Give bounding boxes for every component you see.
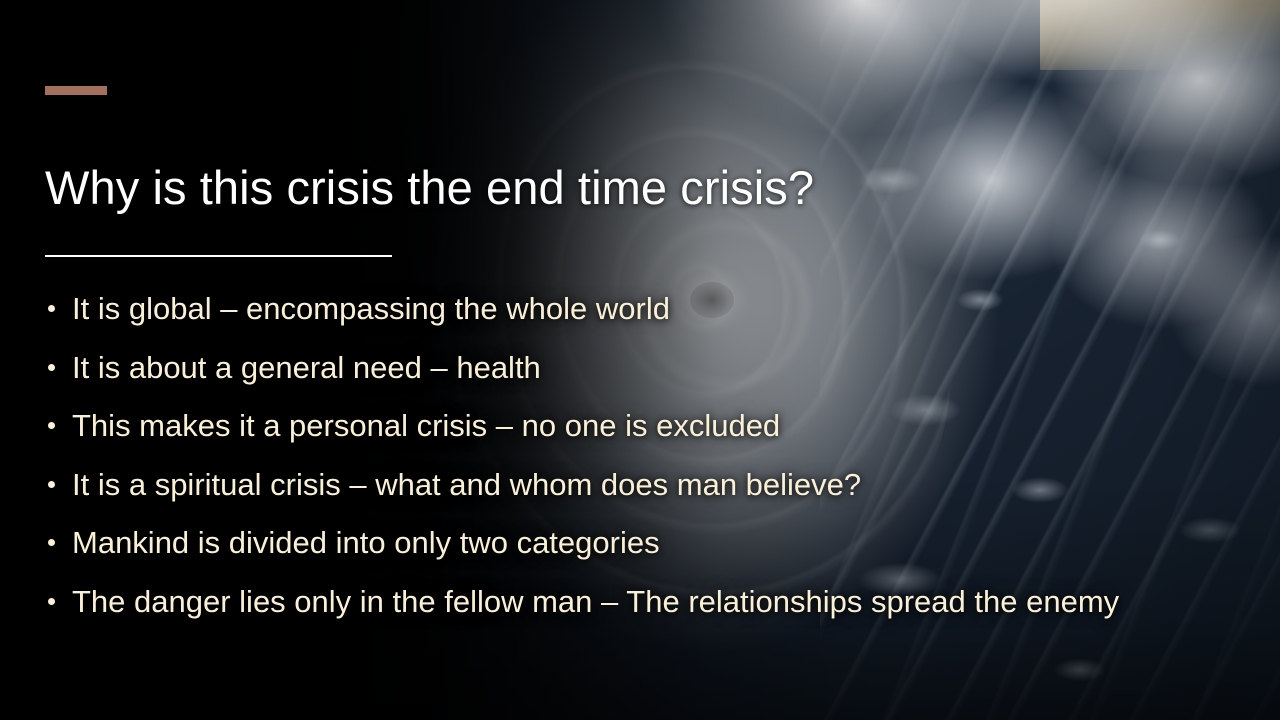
title-underline-rule — [45, 255, 392, 257]
list-item-label: This makes it a personal crisis – no one… — [72, 408, 780, 443]
bullet-dot-icon — [48, 481, 55, 488]
list-item-label: It is global – encompassing the whole wo… — [72, 291, 670, 326]
list-item-label: It is a spiritual crisis – what and whom… — [72, 467, 861, 502]
list-item: It is global – encompassing the whole wo… — [45, 286, 1260, 345]
slide-title: Why is this crisis the end time crisis? — [45, 160, 814, 215]
list-item-label: The danger lies only in the fellow man –… — [72, 584, 1119, 619]
bullet-dot-icon — [48, 598, 55, 605]
bullet-dot-icon — [48, 422, 55, 429]
bullet-dot-icon — [48, 539, 55, 546]
accent-bar — [45, 86, 107, 95]
list-item-label: Mankind is divided into only two categor… — [72, 525, 660, 560]
list-item: It is about a general need – health — [45, 345, 1260, 404]
slide-content: Why is this crisis the end time crisis? … — [0, 0, 1280, 720]
list-item-label: It is about a general need – health — [72, 350, 541, 385]
bullet-dot-icon — [48, 364, 55, 371]
list-item: It is a spiritual crisis – what and whom… — [45, 462, 1260, 521]
presentation-slide: Why is this crisis the end time crisis? … — [0, 0, 1280, 720]
list-item: The danger lies only in the fellow man –… — [45, 579, 1260, 638]
list-item: This makes it a personal crisis – no one… — [45, 403, 1260, 462]
bullet-list: It is global – encompassing the whole wo… — [45, 286, 1260, 637]
bullet-dot-icon — [48, 305, 55, 312]
list-item: Mankind is divided into only two categor… — [45, 520, 1260, 579]
